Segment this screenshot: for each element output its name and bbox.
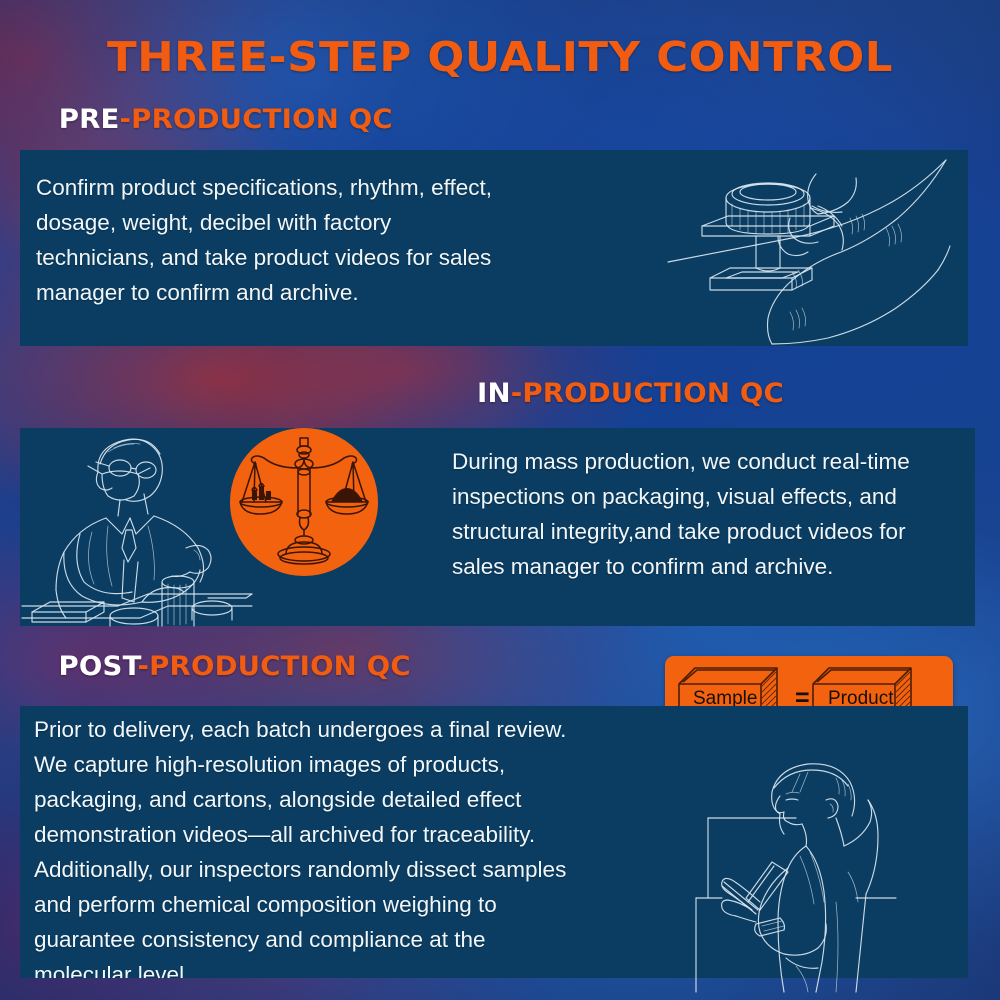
section-title-pre-orange: -PRODUCTION QC <box>120 104 393 135</box>
section-title-post-production: POST-PRODUCTION QC <box>59 651 411 682</box>
section-title-post-orange: -PRODUCTION QC <box>138 651 411 682</box>
section-title-in-production: IN-PRODUCTION QC <box>477 378 784 409</box>
infographic-poster: THREE-STEP QUALITY CONTROL PRE-PRODUCTIO… <box>0 0 1000 1000</box>
hand-holding-product-icon <box>660 152 960 344</box>
worker-inspecting-icon <box>22 430 252 626</box>
section-title-pre-production: PRE-PRODUCTION QC <box>59 104 393 135</box>
card-in-production-body: During mass production, we conduct real-… <box>452 444 972 584</box>
inspector-with-tablet-icon <box>660 752 980 992</box>
section-title-in-white: IN <box>477 378 511 409</box>
section-title-in-orange: -PRODUCTION QC <box>511 378 784 409</box>
section-title-pre-white: PRE <box>59 104 120 135</box>
page-title: THREE-STEP QUALITY CONTROL <box>0 33 1000 81</box>
balance-scale-icon <box>230 428 378 576</box>
section-title-post-white: POST <box>59 651 138 682</box>
card-pre-production-body: Confirm product specifications, rhythm, … <box>36 170 596 310</box>
card-post-production-body: Prior to delivery, each batch undergoes … <box>34 712 674 978</box>
